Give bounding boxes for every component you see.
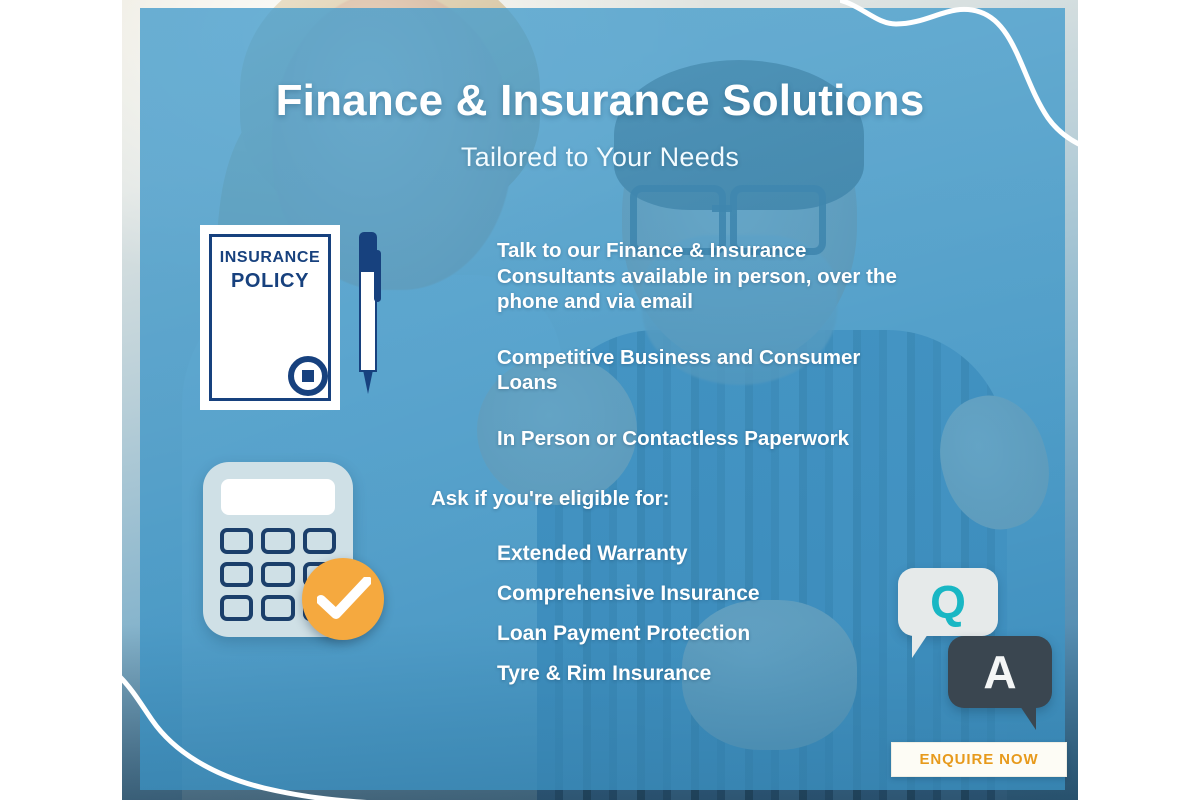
enquire-now-label: ENQUIRE NOW xyxy=(919,751,1038,768)
pen-clip xyxy=(374,250,381,302)
body-paragraph: In Person or Contactless Paperwork xyxy=(497,426,917,452)
answer-bubble-tail xyxy=(1020,706,1036,730)
policy-title-line2: POLICY xyxy=(212,270,328,293)
checkmark-icon xyxy=(317,577,371,621)
policy-title-line1: INSURANCE xyxy=(212,249,328,267)
check-badge-icon xyxy=(302,558,384,640)
calculator-key xyxy=(220,528,253,554)
policy-seal-center xyxy=(302,370,314,382)
question-bubble-tail xyxy=(912,634,928,658)
policy-seal-icon xyxy=(288,356,328,396)
eligibility-list: Extended Warranty Comprehensive Insuranc… xyxy=(497,534,917,694)
page-title: Finance & Insurance Solutions xyxy=(0,76,1200,126)
question-bubble-icon: Q xyxy=(898,568,998,636)
page-subtitle: Tailored to Your Needs xyxy=(0,142,1200,173)
qa-bubbles-icon: Q A xyxy=(898,568,1058,718)
policy-text-line xyxy=(226,323,314,330)
policy-border: INSURANCE POLICY xyxy=(209,234,331,401)
enquire-now-button[interactable]: ENQUIRE NOW xyxy=(891,742,1067,777)
eligibility-heading: Ask if you're eligible for: xyxy=(431,487,669,511)
calculator-key xyxy=(261,595,294,621)
calculator-key xyxy=(220,595,253,621)
promo-banner: Finance & Insurance Solutions Tailored t… xyxy=(0,0,1200,800)
calculator-key xyxy=(261,562,294,588)
policy-text-line xyxy=(226,338,314,345)
pen-icon xyxy=(357,232,379,400)
policy-text-line xyxy=(226,383,282,391)
list-item: Loan Payment Protection xyxy=(497,614,917,654)
body-paragraph: Talk to our Finance & Insurance Consulta… xyxy=(497,238,917,315)
policy-text-line xyxy=(226,307,314,316)
answer-letter: A xyxy=(948,642,1052,702)
list-item: Tyre & Rim Insurance xyxy=(497,654,917,694)
calculator-display xyxy=(221,479,335,515)
list-item: Comprehensive Insurance xyxy=(497,574,917,614)
list-item: Extended Warranty xyxy=(497,534,917,574)
body-copy: Talk to our Finance & Insurance Consulta… xyxy=(497,238,917,451)
calculator-key xyxy=(261,528,294,554)
answer-bubble-icon: A xyxy=(948,636,1052,708)
policy-text-line xyxy=(226,365,282,373)
pen-tip xyxy=(363,370,373,394)
calculator-key xyxy=(220,562,253,588)
question-letter: Q xyxy=(898,574,998,630)
calculator-key xyxy=(303,528,336,554)
body-paragraph: Competitive Business and Consumer Loans xyxy=(497,345,917,396)
insurance-policy-icon: INSURANCE POLICY xyxy=(200,225,340,410)
